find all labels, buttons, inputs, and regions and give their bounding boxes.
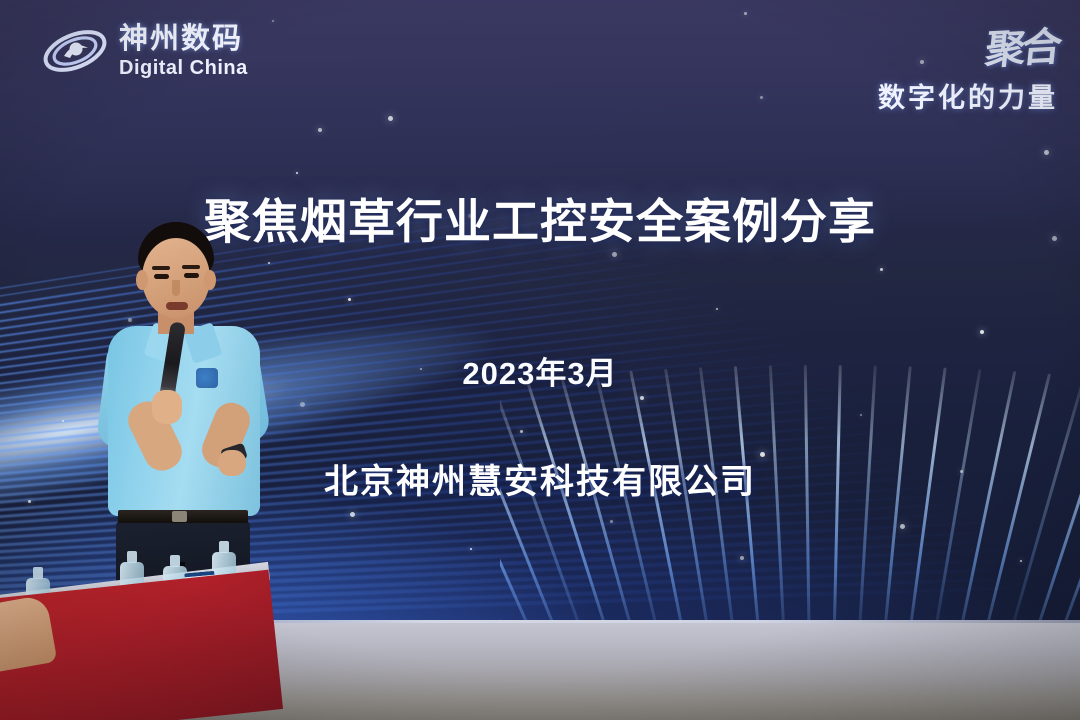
sparkle-particle: [744, 12, 747, 15]
sparkle-particle: [612, 252, 617, 257]
brand-name-cn: 神州数码: [119, 25, 248, 54]
sparkle-particle: [388, 116, 393, 121]
presenter-eye-left: [154, 274, 169, 279]
sparkle-particle: [900, 524, 905, 529]
presenter-mouth: [166, 302, 188, 310]
presenter-right-hand: [218, 450, 246, 476]
sparkle-particle: [980, 330, 984, 334]
sparkle-particle: [716, 308, 718, 310]
light-ray: [500, 382, 595, 625]
presenter-shirt-logo-icon: [196, 368, 218, 388]
sparkle-particle: [860, 414, 862, 416]
sparkle-particle: [296, 172, 298, 174]
presenter-ear-left: [136, 270, 148, 290]
sparkle-particle: [272, 20, 274, 22]
sparkle-particle: [318, 128, 322, 132]
sparkle-particle: [1020, 560, 1022, 562]
digital-china-logo: 神州数码 Digital China: [40, 18, 248, 84]
presenter-brow-left: [152, 266, 170, 270]
sparkle-particle: [740, 556, 744, 560]
brand-name-en: Digital China: [119, 58, 248, 78]
event-logo-subtitle: 数字化的力量: [878, 76, 1058, 115]
sparkle-particle: [1044, 150, 1049, 155]
sparkle-particle: [62, 420, 64, 422]
event-logo-calligraphy: 聚合: [983, 14, 1062, 76]
presenter-ear-right: [204, 270, 216, 290]
light-ray: [1048, 383, 1080, 625]
event-logo: 聚合 数字化的力量: [878, 16, 1058, 115]
sparkle-particle: [470, 548, 472, 550]
presenter-left-hand: [152, 390, 182, 424]
sparkle-particle: [610, 520, 613, 523]
sparkle-particle: [640, 396, 644, 400]
sparkle-particle: [348, 298, 351, 301]
sparkle-particle: [760, 96, 763, 99]
digital-china-swirl-icon: [40, 18, 110, 84]
sparkle-particle: [520, 430, 523, 433]
sparkle-particle: [350, 512, 355, 517]
sparkle-particle: [880, 268, 883, 271]
conference-stage-photo: 神州数码 Digital China 聚合 数字化的力量 聚焦烟草行业工控安全案…: [0, 0, 1080, 720]
presenter-brow-right: [182, 265, 200, 269]
presenter-eye-right: [184, 273, 199, 278]
sparkle-particle: [300, 402, 305, 407]
presenter-belt-buckle: [172, 511, 187, 522]
presenter-nose: [172, 280, 180, 296]
